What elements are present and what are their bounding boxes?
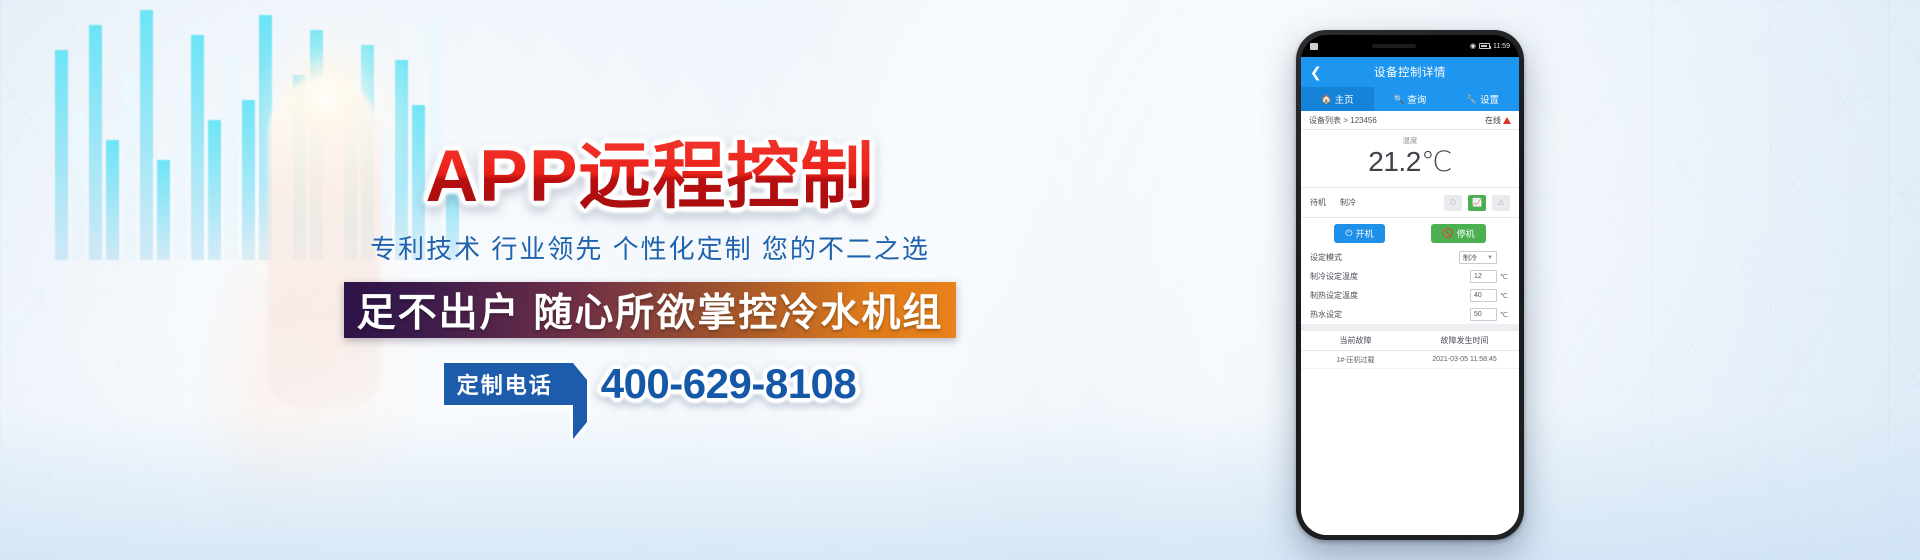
warning-triangle-icon [1503,117,1511,124]
app-bar: ❮ 设备控制详情 [1301,57,1519,87]
search-icon: 🔍 [1394,94,1405,105]
table-row[interactable]: 1#-压机过载 2021-03-05 11:58:45 [1301,351,1519,369]
hotline-number[interactable]: 400-629-8108 [601,360,857,408]
back-chevron-icon[interactable]: ❮ [1310,65,1322,79]
power-off-label: 停机 [1457,227,1475,240]
app-bar-title: 设备控制详情 [1301,64,1519,80]
hero-copy: APP远程控制 专利技术 行业领先 个性化定制 您的不二之选 足不出户 随心所欲… [300,140,1000,408]
tab-settings[interactable]: 🔧 设置 [1446,87,1519,111]
temperature-label: 温度 [1301,135,1519,146]
timer-icon[interactable]: ⏱ [1444,195,1462,211]
signal-icon [1310,43,1318,50]
location-icon: ◉ [1470,42,1476,50]
status-badge: 在线 [1485,115,1511,126]
tab-home[interactable]: 🏠 主页 [1301,87,1374,111]
machine-mode-label: 制冷 [1340,197,1356,208]
app-screen: ❮ 设备控制详情 🏠 主页 🔍 查询 🔧 设置 [1301,57,1519,535]
battery-icon [1479,43,1490,49]
hero-ribbon-text: 足不出户 随心所欲掌控冷水机组 [357,282,944,338]
phone-notch [1318,44,1470,48]
tab-bar: 🏠 主页 🔍 查询 🔧 设置 [1301,87,1519,111]
setting-label-heat-temp: 制热设定温度 [1310,290,1358,301]
power-on-label: 开机 [1356,227,1374,240]
online-status-label: 在线 [1485,115,1501,126]
cool-temp-input[interactable]: 12 [1470,270,1497,283]
tab-query-label: 查询 [1407,92,1426,106]
setting-label-hotwater: 热水设定 [1310,309,1342,320]
fault-cell-time: 2021-03-05 11:58:45 [1410,356,1519,363]
power-off-button[interactable]: 🚫 停机 [1431,224,1485,243]
power-icon: ⏻ [1345,228,1352,239]
tab-home-label: 主页 [1335,92,1354,106]
power-on-button[interactable]: ⏻ 开机 [1334,224,1384,243]
fault-col-time: 故障发生时间 [1410,335,1519,346]
setting-control-hotwater: 50 ℃ [1470,308,1510,321]
status-right-icons: ◉ 11:59 [1470,42,1510,50]
tab-query[interactable]: 🔍 查询 [1374,87,1447,111]
phone-status-bar: ◉ 11:59 [1301,35,1519,57]
setting-unit-hotwater: ℃ [1500,311,1510,319]
setting-control-heat-temp: 40 ℃ [1470,289,1510,302]
fault-table-header: 当前故障 故障发生时间 [1301,331,1519,351]
status-time: 11:59 [1493,43,1510,50]
hotline-row: 定制电话 400-629-8108 [300,360,1000,408]
chevron-down-icon: ▼ [1487,255,1493,261]
hero-subtitle: 专利技术 行业领先 个性化定制 您的不二之选 [300,229,1000,266]
temperature-card: 温度 21.2℃ [1301,130,1519,188]
fault-col-current: 当前故障 [1301,335,1410,346]
mode-select[interactable]: 制冷 ▼ [1459,251,1497,264]
setting-control-mode: 制冷 ▼ [1459,251,1510,264]
fault-cell-name: 1#-压机过载 [1301,355,1410,365]
breadcrumb-path[interactable]: 设备列表 > 123456 [1309,115,1377,126]
wrench-icon: 🔧 [1466,94,1477,105]
bottom-vignette [0,410,1920,560]
mode-status-row: 待机 制冷 ⏱ 📈 ⚠ [1301,188,1519,218]
setting-row-heat-temp: 制热设定温度 40 ℃ [1301,286,1519,305]
page-title: APP远程控制 [300,140,1000,213]
hotline-badge: 定制电话 [444,363,573,405]
banner-stage: APP远程控制 专利技术 行业领先 个性化定制 您的不二之选 足不出户 随心所欲… [0,0,1920,560]
chart-icon[interactable]: 📈 [1468,195,1486,211]
machine-state-label: 待机 [1310,197,1326,208]
stop-icon: 🚫 [1442,228,1453,239]
phone-mockup: ◉ 11:59 ❮ 设备控制详情 🏠 主页 🔍 [1296,30,1524,540]
setting-label-mode: 设定模式 [1310,252,1342,263]
tab-settings-label: 设置 [1480,92,1499,106]
setting-row-mode: 设定模式 制冷 ▼ [1301,248,1519,267]
setting-unit-cool-temp: ℃ [1500,273,1510,281]
alarm-icon[interactable]: ⚠ [1492,195,1510,211]
power-button-row: ⏻ 开机 🚫 停机 [1301,218,1519,248]
screen-filler [1301,369,1519,535]
breadcrumb: 设备列表 > 123456 在线 [1301,111,1519,130]
setting-control-cool-temp: 12 ℃ [1470,270,1510,283]
home-icon: 🏠 [1321,94,1332,105]
status-left-icons [1310,43,1318,50]
setting-row-hotwater: 热水设定 50 ℃ [1301,305,1519,324]
section-divider [1301,324,1519,331]
phone-screen-frame: ◉ 11:59 ❮ 设备控制详情 🏠 主页 🔍 [1301,35,1519,535]
setting-unit-heat-temp: ℃ [1500,292,1510,300]
setting-label-cool-temp: 制冷设定温度 [1310,271,1358,282]
setting-row-cool-temp: 制冷设定温度 12 ℃ [1301,267,1519,286]
heat-temp-input[interactable]: 40 [1470,289,1497,302]
mode-select-value: 制冷 [1463,253,1487,263]
temperature-value: 21.2℃ [1301,146,1519,178]
hero-ribbon: 足不出户 随心所欲掌控冷水机组 [344,282,956,338]
mode-icon-group: ⏱ 📈 ⚠ [1444,195,1510,211]
hotwater-input[interactable]: 50 [1470,308,1497,321]
